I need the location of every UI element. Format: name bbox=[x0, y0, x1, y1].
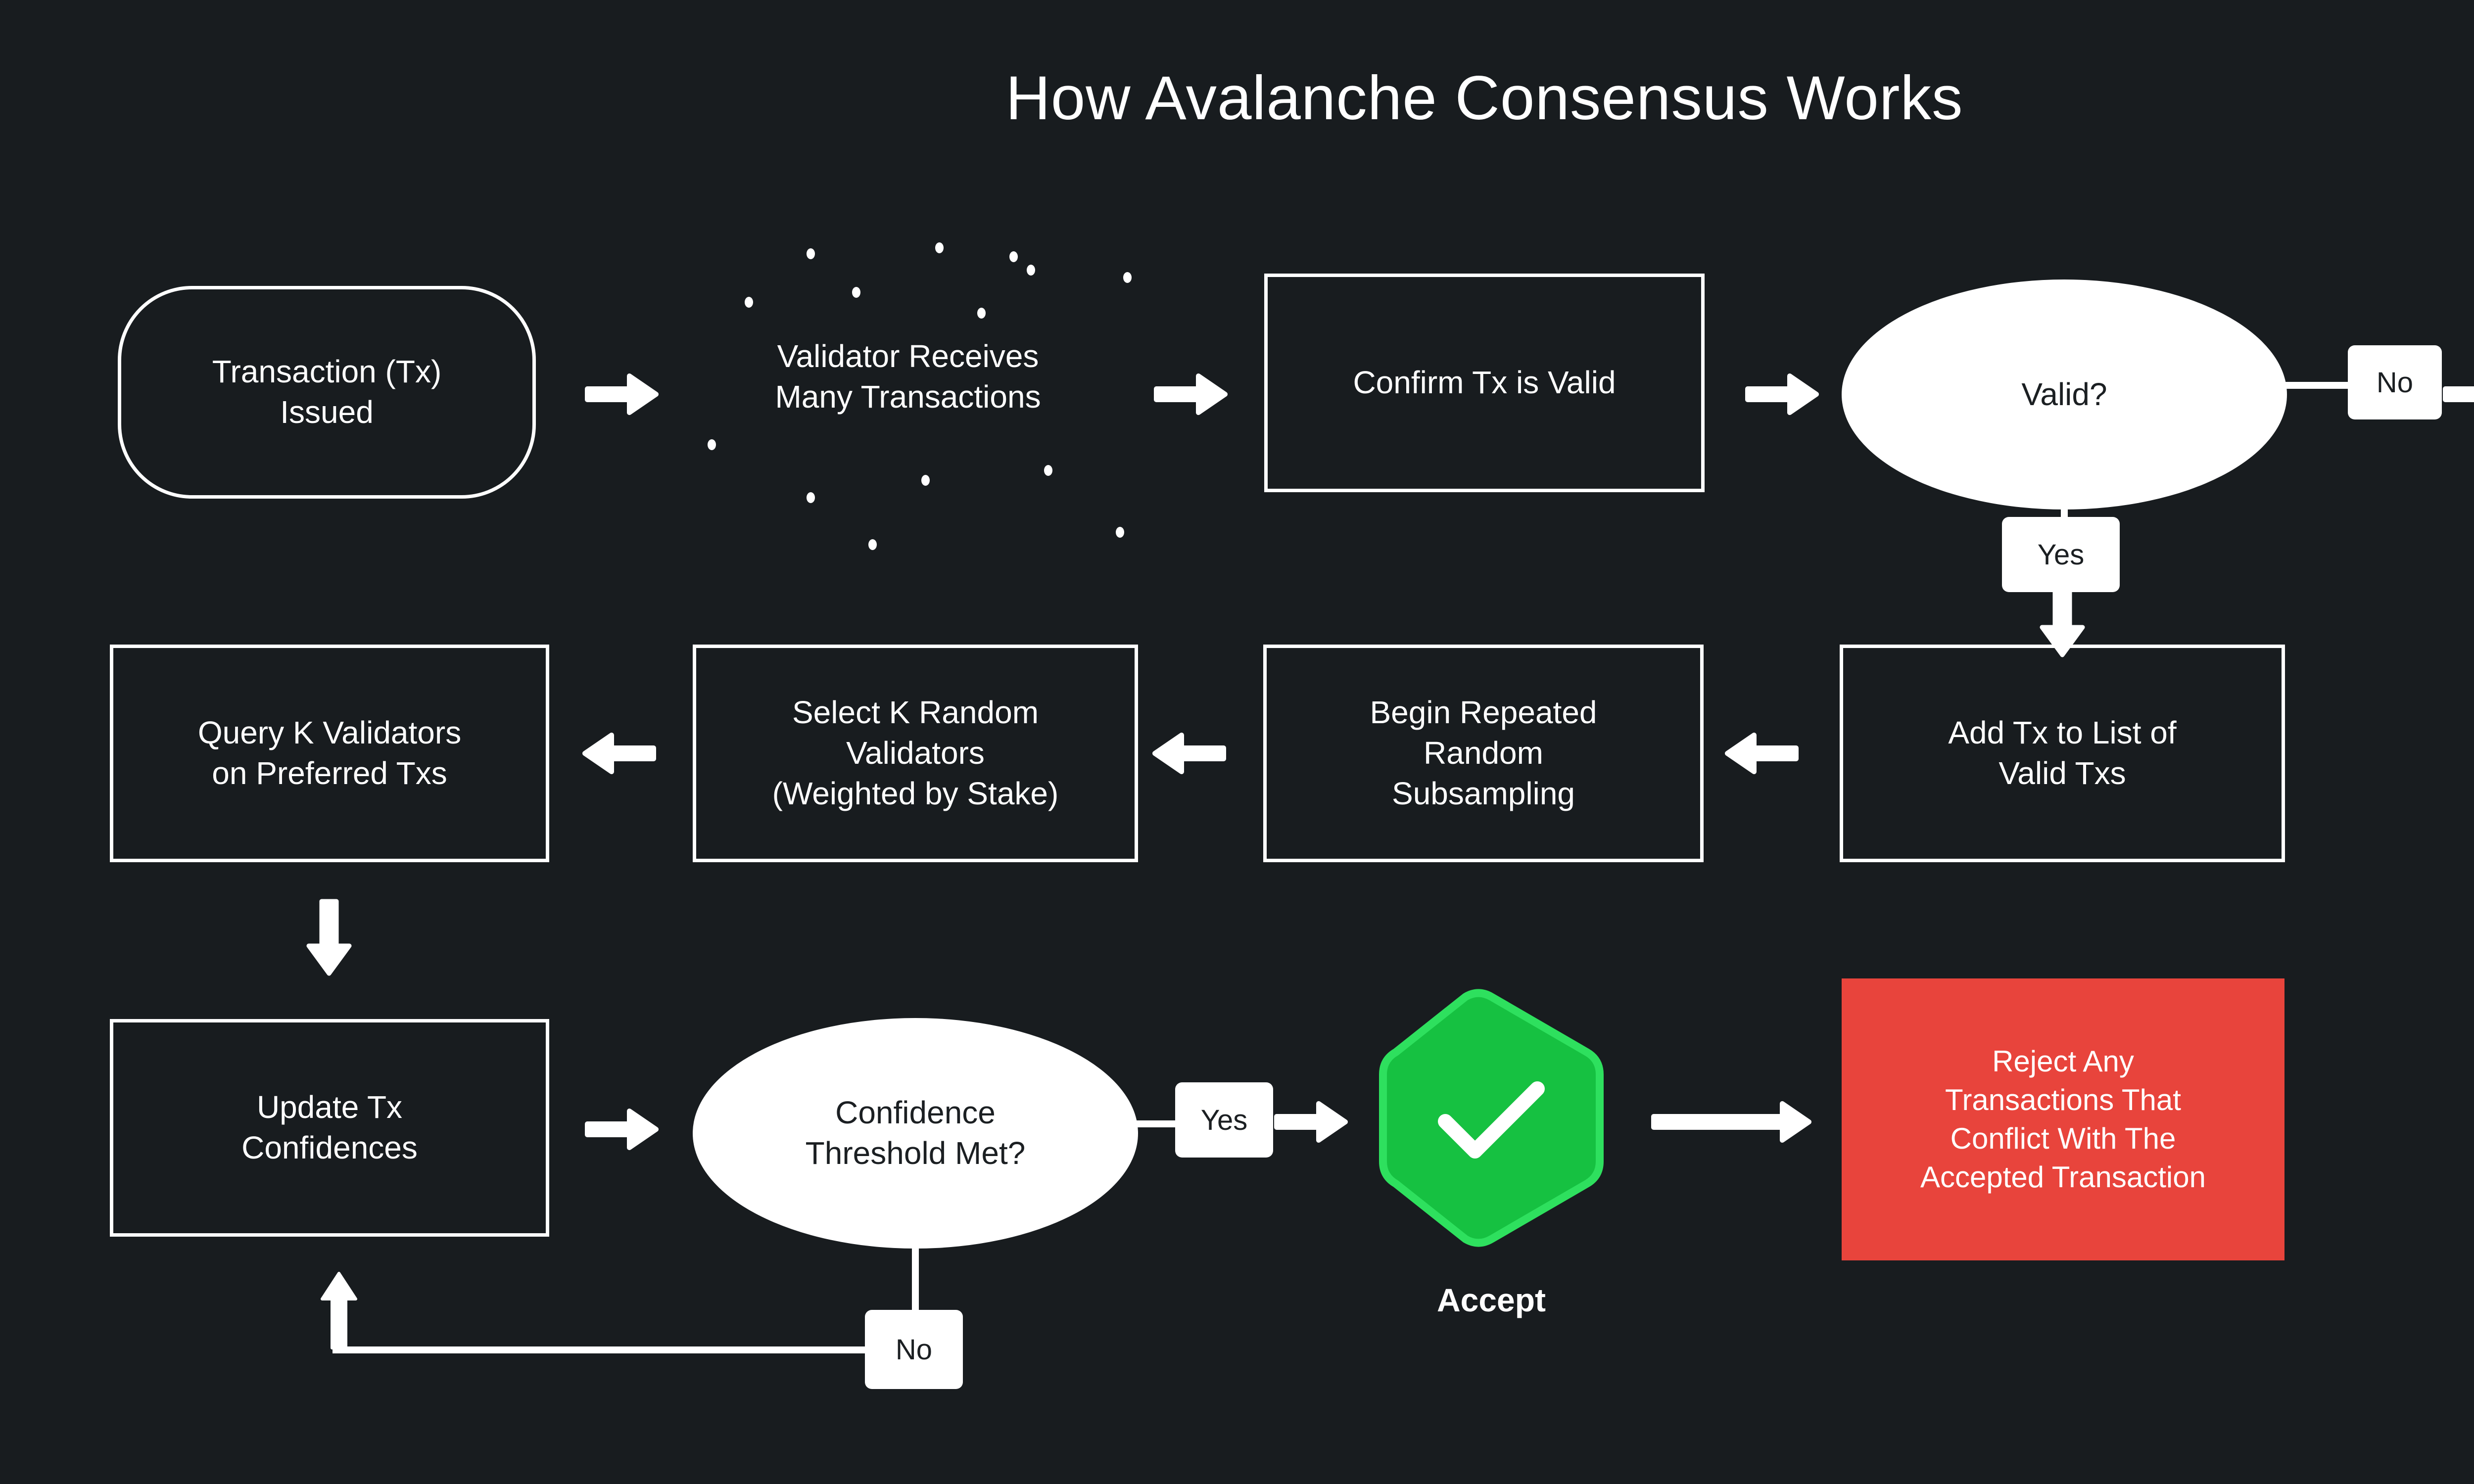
node-confidence-decision-label: Confidence Threshold Met? bbox=[806, 1093, 1026, 1174]
node-begin-subsampling[interactable]: Begin Repeated Random Subsampling bbox=[1263, 645, 1704, 862]
node-update-confidences[interactable]: Update Tx Confidences bbox=[110, 1019, 549, 1237]
arrow-right-2 bbox=[1155, 367, 1227, 421]
arrow-left-2 bbox=[1153, 726, 1225, 781]
node-reject-conflicts-label: Reject Any Transactions That Conflict Wi… bbox=[1920, 1042, 2206, 1197]
node-confirm-tx-valid[interactable]: Confirm Tx is Valid bbox=[1264, 274, 1705, 492]
transaction-dot bbox=[852, 287, 860, 298]
node-update-confidences-label: Update Tx Confidences bbox=[241, 1087, 418, 1168]
arrow-down-to-update-confidences bbox=[302, 900, 356, 975]
transaction-dot bbox=[807, 492, 815, 503]
node-valid-decision[interactable]: Valid? bbox=[1842, 279, 2287, 510]
node-add-tx-valid-list-label: Add Tx to List of Valid Txs bbox=[1948, 713, 2176, 794]
node-confidence-decision[interactable]: Confidence Threshold Met? bbox=[693, 1018, 1138, 1249]
transaction-dot bbox=[1123, 272, 1132, 283]
arrow-right-3 bbox=[1747, 367, 1818, 421]
node-validator-receives-label: Validator Receives Many Transactions bbox=[693, 336, 1123, 417]
transaction-dot bbox=[868, 539, 877, 550]
transaction-dot bbox=[977, 308, 986, 319]
node-validator-receives[interactable]: Validator Receives Many Transactions bbox=[693, 336, 1123, 450]
connector-valid-to-no bbox=[2279, 382, 2353, 389]
transaction-dot bbox=[1027, 265, 1035, 276]
node-select-k-random-label: Select K Random Validators (Weighted by … bbox=[772, 693, 1059, 814]
edge-label-valid-no: No bbox=[2348, 345, 2442, 419]
arrow-right-accept bbox=[1276, 1095, 1347, 1149]
connector-loop-horizontal bbox=[333, 1346, 872, 1353]
transaction-dot bbox=[807, 248, 815, 259]
transaction-dot bbox=[1044, 465, 1052, 476]
transaction-dot bbox=[935, 242, 944, 253]
node-valid-decision-label: Valid? bbox=[2021, 374, 2107, 415]
transaction-dot bbox=[921, 475, 930, 486]
arrow-right-4 bbox=[586, 1102, 658, 1157]
node-accept[interactable] bbox=[1363, 992, 1619, 1244]
node-query-k-validators[interactable]: Query K Validators on Preferred Txs bbox=[110, 645, 549, 862]
node-add-tx-valid-list[interactable]: Add Tx to List of Valid Txs bbox=[1840, 645, 2285, 862]
arrow-right-ignore bbox=[2444, 367, 2474, 421]
transaction-dot bbox=[1116, 527, 1124, 538]
node-transaction-issued[interactable]: Transaction (Tx) Issued bbox=[118, 286, 536, 499]
edge-label-confidence-no: No bbox=[865, 1310, 963, 1389]
edge-label-confidence-yes: Yes bbox=[1175, 1082, 1273, 1158]
transaction-dot bbox=[1009, 251, 1018, 262]
node-query-k-validators-label: Query K Validators on Preferred Txs bbox=[198, 713, 461, 794]
page-title: How Avalanche Consensus Works bbox=[0, 64, 2474, 133]
arrow-left-3 bbox=[583, 726, 655, 781]
edge-label-valid-yes: Yes bbox=[2002, 517, 2120, 592]
node-confirm-tx-valid-label: Confirm Tx is Valid bbox=[1353, 363, 1616, 403]
node-select-k-random[interactable]: Select K Random Validators (Weighted by … bbox=[693, 645, 1138, 862]
flowchart-canvas: How Avalanche Consensus Works Transactio… bbox=[0, 0, 2474, 1484]
node-reject-conflicts[interactable]: Reject Any Transactions That Conflict Wi… bbox=[1842, 978, 2284, 1260]
transaction-dot bbox=[745, 297, 753, 308]
arrow-right-1 bbox=[586, 367, 658, 421]
node-transaction-issued-label: Transaction (Tx) Issued bbox=[212, 352, 442, 433]
node-accept-caption: Accept bbox=[1363, 1281, 1619, 1319]
node-begin-subsampling-label: Begin Repeated Random Subsampling bbox=[1370, 693, 1597, 814]
arrow-up-loopback bbox=[312, 1272, 366, 1349]
arrow-right-reject bbox=[1653, 1095, 1811, 1149]
arrow-left-1 bbox=[1725, 726, 1797, 781]
